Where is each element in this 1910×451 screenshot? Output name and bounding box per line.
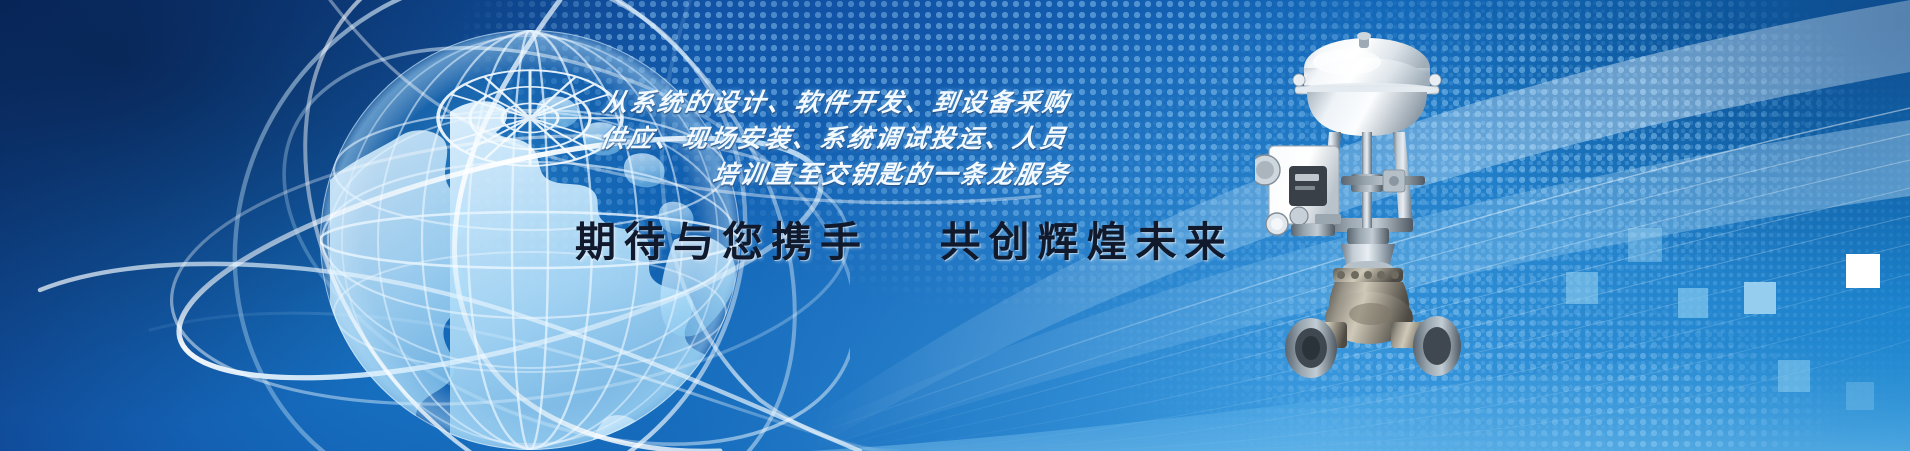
accent-square bbox=[1846, 254, 1880, 288]
script-line-3: 培训直至交钥匙的一条龙服务 bbox=[597, 158, 1072, 192]
script-line-2: 供应、现场安装、系统调试投运、人员 bbox=[597, 122, 1066, 156]
diaphragm-actuator bbox=[1293, 32, 1441, 136]
hero-banner: 从系统的设计、软件开发、到设备采购 供应、现场安装、系统调试投运、人员 培训直至… bbox=[0, 0, 1910, 451]
accent-square bbox=[1744, 282, 1776, 314]
valve-svg bbox=[1255, 28, 1480, 388]
script-line-1: 从系统的设计、软件开发、到设备采购 bbox=[597, 86, 1072, 120]
headline-part-1: 期待与您携手 bbox=[575, 218, 869, 266]
accent-square bbox=[1678, 288, 1708, 318]
accent-square bbox=[1778, 360, 1810, 392]
accent-square bbox=[1846, 382, 1874, 410]
headline-part-2: 共创辉煌未来 bbox=[940, 218, 1234, 266]
globe-polar-rosette bbox=[438, 70, 622, 166]
marketing-copy-block: 从系统的设计、软件开发、到设备采购 供应、现场安装、系统调试投运、人员 培训直至… bbox=[600, 86, 1070, 194]
accent-square bbox=[1566, 272, 1598, 304]
valve-positioner bbox=[1255, 146, 1341, 236]
headline: 期待与您携手 共创辉煌未来 bbox=[575, 216, 1234, 268]
globe-valve-body bbox=[1285, 268, 1461, 378]
valve-bonnet bbox=[1341, 228, 1395, 275]
accent-square bbox=[1628, 228, 1662, 262]
product-image-control-valve bbox=[1255, 28, 1480, 388]
positioner-brand-label bbox=[1295, 174, 1319, 181]
